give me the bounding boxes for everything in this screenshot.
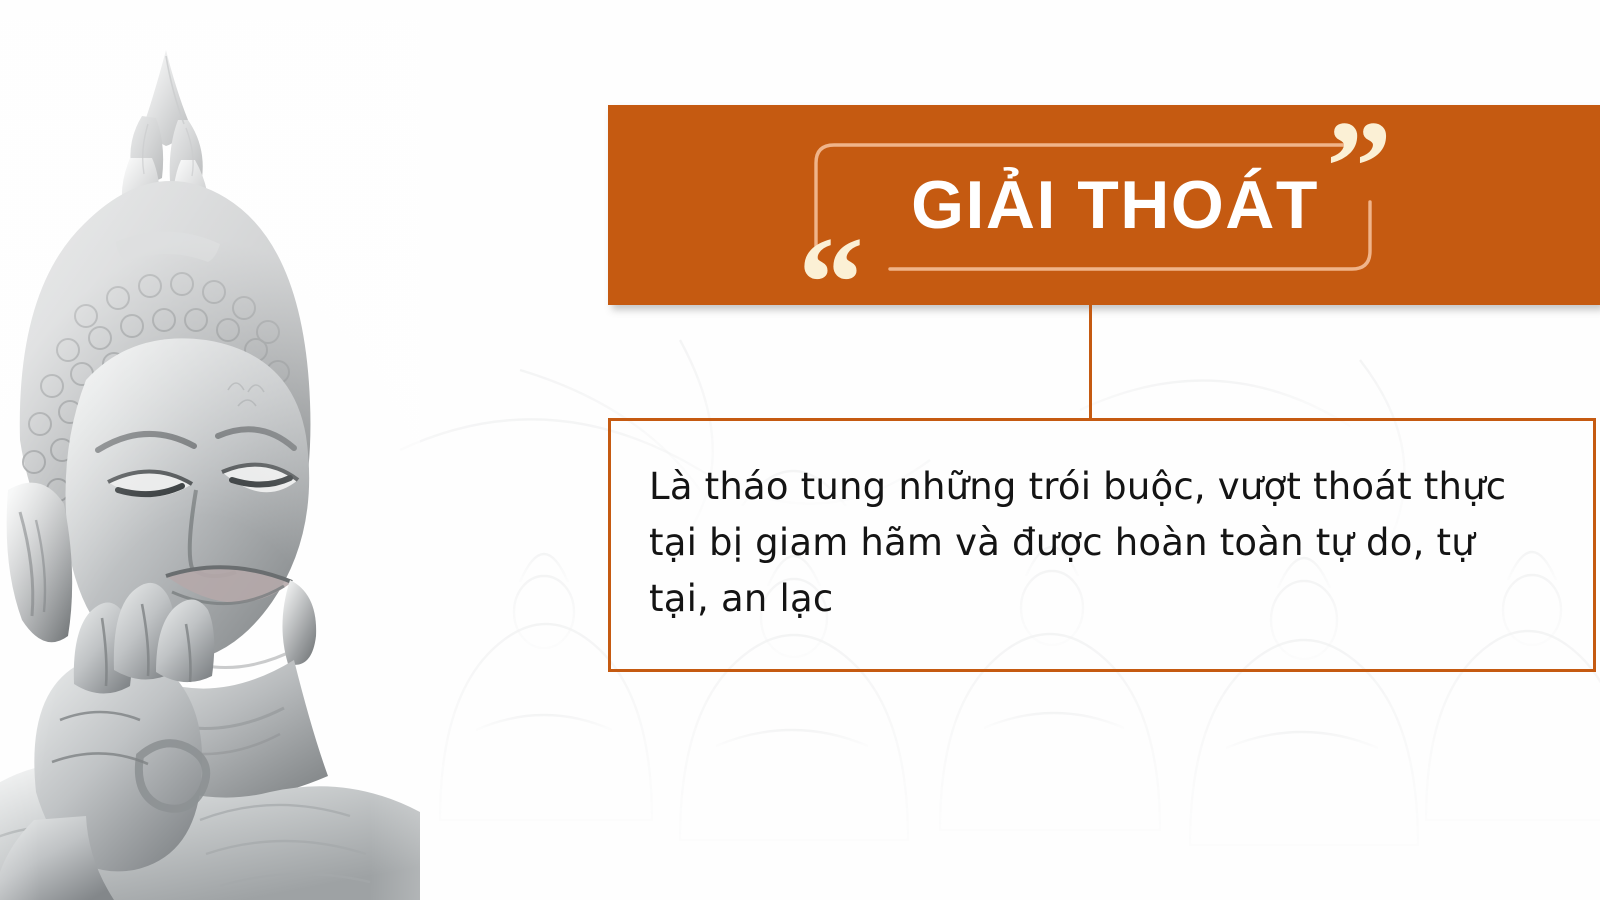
slide-canvas: “ ” GIẢI THOÁT Là tháo tung những trói b… xyxy=(0,0,1600,900)
page-title: GIẢI THOÁT xyxy=(608,105,1600,305)
banner-textbox-connector xyxy=(1089,303,1092,421)
buddha-statue-image xyxy=(0,20,420,900)
title-banner: “ ” GIẢI THOÁT xyxy=(608,105,1600,305)
body-textbox: Là tháo tung những trói buộc, vượt thoát… xyxy=(608,418,1596,672)
body-text: Là tháo tung những trói buộc, vượt thoát… xyxy=(649,459,1509,628)
